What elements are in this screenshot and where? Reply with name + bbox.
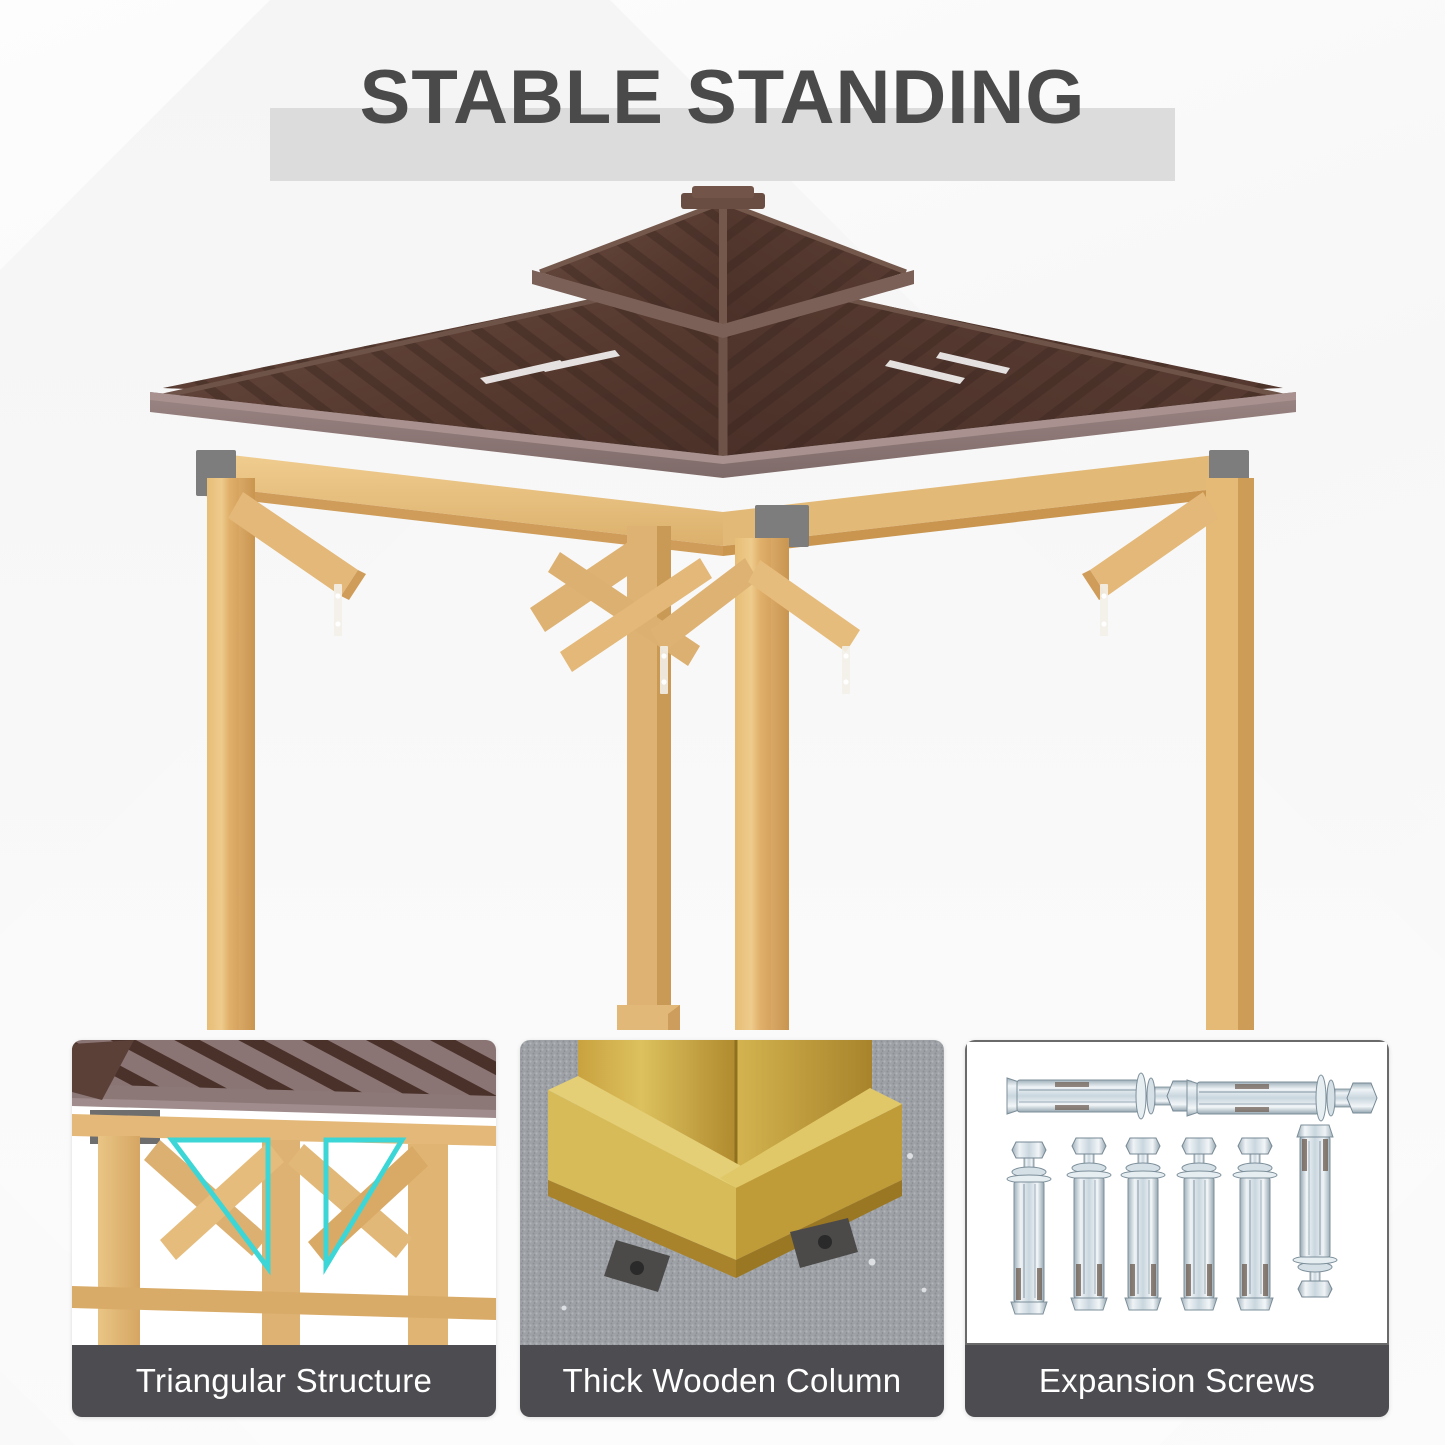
panel-1-caption-bar: Triangular Structure bbox=[72, 1345, 496, 1417]
panel-1-artwork bbox=[72, 1040, 496, 1345]
post-front-center bbox=[723, 538, 800, 1030]
feature-panel-row: Triangular Structure bbox=[0, 1040, 1445, 1420]
hero-gazebo-illustration bbox=[0, 160, 1445, 1030]
page-title: STABLE STANDING bbox=[0, 60, 1445, 136]
post-back-left bbox=[184, 478, 264, 1030]
panel-3-artwork bbox=[965, 1040, 1389, 1345]
panel-1-caption-text: Triangular Structure bbox=[136, 1362, 432, 1400]
panel-3-caption-bar: Expansion Screws bbox=[965, 1345, 1389, 1417]
panel-expansion-screws[interactable]: Expansion Screws bbox=[965, 1040, 1389, 1417]
panel-2-caption-text: Thick Wooden Column bbox=[563, 1362, 902, 1400]
panel-2-artwork bbox=[520, 1040, 944, 1345]
infographic-page: STABLE STANDING bbox=[0, 0, 1445, 1445]
panel-3-caption-text: Expansion Screws bbox=[1039, 1362, 1315, 1400]
panel-triangular-structure[interactable]: Triangular Structure bbox=[72, 1040, 496, 1417]
post-back-right bbox=[1195, 478, 1263, 1030]
panel-thick-wooden-column[interactable]: Thick Wooden Column bbox=[520, 1040, 944, 1417]
panel-2-caption-bar: Thick Wooden Column bbox=[520, 1345, 944, 1417]
